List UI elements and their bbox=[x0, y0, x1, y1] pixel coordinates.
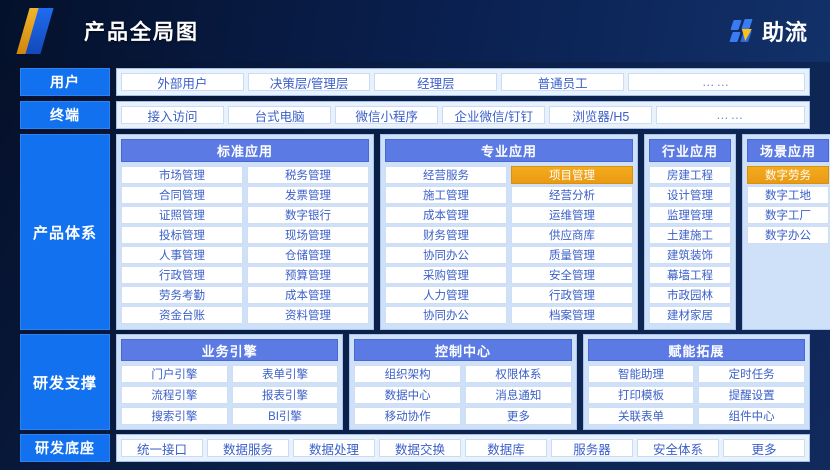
category-column-0-1: 税务管理发票管理数字银行现场管理仓储管理预算管理成本管理资料管理 bbox=[247, 166, 369, 325]
app-tile[interactable]: 数字办公 bbox=[747, 226, 829, 244]
app-tile[interactable]: 行政管理 bbox=[511, 286, 633, 304]
rd-support-label: 研发支撑 bbox=[20, 334, 110, 430]
rd-columns-0: 门户引擎流程引擎搜索引擎表单引擎报表引擎BI引擎 bbox=[121, 365, 338, 425]
app-tile[interactable]: 监理管理 bbox=[649, 206, 731, 224]
app-tile[interactable]: 质量管理 bbox=[511, 246, 633, 264]
rd-panel-0: 业务引擎门户引擎流程引擎搜索引擎表单引擎报表引擎BI引擎 bbox=[116, 334, 343, 430]
terminal-row-label: 终端 bbox=[20, 101, 110, 129]
app-tile[interactable]: 税务管理 bbox=[247, 166, 369, 184]
app-tile[interactable]: 合同管理 bbox=[121, 186, 243, 204]
brand-logo: 助流 bbox=[730, 15, 808, 47]
rd-base-row: 研发底座 统一接口数据服务数据处理数据交换数据库服务器安全体系更多 bbox=[20, 434, 810, 462]
brand-name: 助流 bbox=[762, 15, 808, 47]
rd-tile[interactable]: 门户引擎 bbox=[121, 365, 228, 383]
rd-base-cell-2[interactable]: 数据处理 bbox=[293, 439, 375, 457]
app-tile[interactable]: 仓储管理 bbox=[247, 246, 369, 264]
category-columns-0: 市场管理合同管理证照管理投标管理人事管理行政管理劳务考勤资金台账税务管理发票管理… bbox=[121, 166, 369, 325]
rd-tile[interactable]: 表单引擎 bbox=[232, 365, 339, 383]
app-tile[interactable]: 人事管理 bbox=[121, 246, 243, 264]
app-tile[interactable]: 成本管理 bbox=[247, 286, 369, 304]
category-columns-1: 经营服务施工管理成本管理财务管理协同办公采购管理人力管理协同办公项目管理经营分析… bbox=[385, 166, 633, 325]
category-column-3-0: 数字劳务数字工地数字工厂数字办公 bbox=[747, 166, 829, 325]
rd-column-1-0: 组织架构数据中心移动协作 bbox=[354, 365, 461, 425]
rd-tile[interactable]: 消息通知 bbox=[465, 386, 572, 404]
rd-column-0-0: 门户引擎流程引擎搜索引擎 bbox=[121, 365, 228, 425]
terminal-cell-4[interactable]: 浏览器/H5 bbox=[549, 106, 652, 124]
zhuliu-logo-icon bbox=[730, 18, 756, 44]
lightning-bolt-icon bbox=[740, 29, 752, 41]
rd-tile[interactable]: 流程引擎 bbox=[121, 386, 228, 404]
terminal-cell-0[interactable]: 接入访问 bbox=[121, 106, 224, 124]
app-tile[interactable]: 市场管理 bbox=[121, 166, 243, 184]
rd-tile[interactable]: 组织架构 bbox=[354, 365, 461, 383]
app-tile[interactable]: 建筑装饰 bbox=[649, 246, 731, 264]
terminal-row: 终端 接入访问台式电脑微信小程序企业微信/钉钉浏览器/H5…… bbox=[20, 101, 810, 129]
terminal-cell-3[interactable]: 企业微信/钉钉 bbox=[442, 106, 545, 124]
rd-columns-1: 组织架构数据中心移动协作权限体系消息通知更多 bbox=[354, 365, 571, 425]
rd-tile[interactable]: 数据中心 bbox=[354, 386, 461, 404]
rd-support-panels: 业务引擎门户引擎流程引擎搜索引擎表单引擎报表引擎BI引擎控制中心组织架构数据中心… bbox=[116, 334, 810, 430]
category-panel-2: 行业应用房建工程设计管理监理管理土建施工建筑装饰幕墙工程市政园林建材家居 bbox=[644, 134, 736, 330]
app-tile[interactable]: 房建工程 bbox=[649, 166, 731, 184]
app-tile[interactable]: 档案管理 bbox=[511, 306, 633, 324]
product-system-label: 产品体系 bbox=[20, 134, 110, 330]
app-tile[interactable]: 证照管理 bbox=[121, 206, 243, 224]
app-tile[interactable]: 数字工地 bbox=[747, 186, 829, 204]
user-cell-3[interactable]: 普通员工 bbox=[501, 73, 624, 91]
rd-tile[interactable]: 智能助理 bbox=[588, 365, 695, 383]
user-cell-1[interactable]: 决策层/管理层 bbox=[248, 73, 371, 91]
user-cell-0[interactable]: 外部用户 bbox=[121, 73, 244, 91]
rd-panel-1: 控制中心组织架构数据中心移动协作权限体系消息通知更多 bbox=[349, 334, 576, 430]
rd-tile[interactable]: BI引擎 bbox=[232, 407, 339, 425]
app-tile[interactable]: 投标管理 bbox=[121, 226, 243, 244]
app-tile[interactable]: 运维管理 bbox=[511, 206, 633, 224]
app-tile[interactable]: 协同办公 bbox=[385, 306, 507, 324]
app-tile[interactable]: 现场管理 bbox=[247, 226, 369, 244]
app-tile[interactable]: 经营服务 bbox=[385, 166, 507, 184]
rd-column-2-0: 智能助理打印模板关联表单 bbox=[588, 365, 695, 425]
app-tile[interactable]: 数字工厂 bbox=[747, 206, 829, 224]
category-column-1-0: 经营服务施工管理成本管理财务管理协同办公采购管理人力管理协同办公 bbox=[385, 166, 507, 325]
app-tile[interactable]: 资料管理 bbox=[247, 306, 369, 324]
terminal-cell-5[interactable]: …… bbox=[656, 106, 805, 124]
app-tile[interactable]: 协同办公 bbox=[385, 246, 507, 264]
app-tile[interactable]: 施工管理 bbox=[385, 186, 507, 204]
rd-columns-2: 智能助理打印模板关联表单定时任务提醒设置组件中心 bbox=[588, 365, 805, 425]
category-title-1: 专业应用 bbox=[385, 139, 633, 162]
rd-tile[interactable]: 搜索引擎 bbox=[121, 407, 228, 425]
app-tile[interactable]: 市政园林 bbox=[649, 286, 731, 304]
rd-base-cell-1[interactable]: 数据服务 bbox=[207, 439, 289, 457]
rd-panel-2: 赋能拓展智能助理打印模板关联表单定时任务提醒设置组件中心 bbox=[583, 334, 810, 430]
rd-base-cell-7[interactable]: 更多 bbox=[723, 439, 805, 457]
app-tile[interactable]: 采购管理 bbox=[385, 266, 507, 284]
rd-panel-title-0: 业务引擎 bbox=[121, 339, 338, 361]
app-tile[interactable]: 项目管理 bbox=[511, 166, 633, 184]
rd-column-0-1: 表单引擎报表引擎BI引擎 bbox=[232, 365, 339, 425]
app-tile[interactable]: 资金台账 bbox=[121, 306, 243, 324]
rd-panel-title-1: 控制中心 bbox=[354, 339, 571, 361]
rd-base-cell-3[interactable]: 数据交换 bbox=[379, 439, 461, 457]
rd-tile[interactable]: 权限体系 bbox=[465, 365, 572, 383]
rd-tile[interactable]: 移动协作 bbox=[354, 407, 461, 425]
users-row-cells: 外部用户决策层/管理层经理层普通员工…… bbox=[116, 68, 810, 96]
slanted-bars-icon bbox=[22, 8, 70, 54]
category-columns-2: 房建工程设计管理监理管理土建施工建筑装饰幕墙工程市政园林建材家居 bbox=[649, 166, 731, 325]
category-title-2: 行业应用 bbox=[649, 139, 731, 162]
app-tile[interactable]: 成本管理 bbox=[385, 206, 507, 224]
rd-tile[interactable]: 打印模板 bbox=[588, 386, 695, 404]
rd-support-row: 研发支撑 业务引擎门户引擎流程引擎搜索引擎表单引擎报表引擎BI引擎控制中心组织架… bbox=[20, 334, 810, 430]
app-tile[interactable]: 经营分析 bbox=[511, 186, 633, 204]
app-tile[interactable]: 土建施工 bbox=[649, 226, 731, 244]
category-title-3: 场景应用 bbox=[747, 139, 829, 162]
page-title: 产品全局图 bbox=[84, 16, 199, 46]
rd-base-cell-4[interactable]: 数据库 bbox=[465, 439, 547, 457]
page-header: 产品全局图 助流 bbox=[0, 0, 830, 62]
category-column-1-1: 项目管理经营分析运维管理供应商库质量管理安全管理行政管理档案管理 bbox=[511, 166, 633, 325]
app-tile[interactable]: 行政管理 bbox=[121, 266, 243, 284]
rd-column-2-1: 定时任务提醒设置组件中心 bbox=[698, 365, 805, 425]
app-tile[interactable]: 数字劳务 bbox=[747, 166, 829, 184]
category-panel-1: 专业应用经营服务施工管理成本管理财务管理协同办公采购管理人力管理协同办公项目管理… bbox=[380, 134, 638, 330]
app-tile[interactable]: 财务管理 bbox=[385, 226, 507, 244]
app-tile[interactable]: 发票管理 bbox=[247, 186, 369, 204]
terminal-row-cells: 接入访问台式电脑微信小程序企业微信/钉钉浏览器/H5…… bbox=[116, 101, 810, 129]
app-tile[interactable]: 数字银行 bbox=[247, 206, 369, 224]
category-panel-3: 场景应用数字劳务数字工地数字工厂数字办公 bbox=[742, 134, 830, 330]
terminal-cell-1[interactable]: 台式电脑 bbox=[228, 106, 331, 124]
rd-base-cell-5[interactable]: 服务器 bbox=[551, 439, 633, 457]
app-tile[interactable]: 供应商库 bbox=[511, 226, 633, 244]
rd-panel-title-2: 赋能拓展 bbox=[588, 339, 805, 361]
rd-tile[interactable]: 提醒设置 bbox=[698, 386, 805, 404]
rd-base-cell-6[interactable]: 安全体系 bbox=[637, 439, 719, 457]
app-tile[interactable]: 劳务考勤 bbox=[121, 286, 243, 304]
rd-tile[interactable]: 组件中心 bbox=[698, 407, 805, 425]
rd-base-cell-0[interactable]: 统一接口 bbox=[121, 439, 203, 457]
category-title-0: 标准应用 bbox=[121, 139, 369, 162]
terminal-cell-2[interactable]: 微信小程序 bbox=[335, 106, 438, 124]
category-columns-3: 数字劳务数字工地数字工厂数字办公 bbox=[747, 166, 829, 325]
users-row: 用户 外部用户决策层/管理层经理层普通员工…… bbox=[20, 68, 810, 96]
app-tile[interactable]: 预算管理 bbox=[247, 266, 369, 284]
app-tile[interactable]: 建材家居 bbox=[649, 306, 731, 324]
rd-tile[interactable]: 关联表单 bbox=[588, 407, 695, 425]
app-tile[interactable]: 安全管理 bbox=[511, 266, 633, 284]
rd-tile[interactable]: 定时任务 bbox=[698, 365, 805, 383]
category-panel-0: 标准应用市场管理合同管理证照管理投标管理人事管理行政管理劳务考勤资金台账税务管理… bbox=[116, 134, 374, 330]
app-tile[interactable]: 幕墙工程 bbox=[649, 266, 731, 284]
rd-tile[interactable]: 更多 bbox=[465, 407, 572, 425]
product-category-panels: 标准应用市场管理合同管理证照管理投标管理人事管理行政管理劳务考勤资金台账税务管理… bbox=[116, 134, 830, 330]
user-cell-2[interactable]: 经理层 bbox=[374, 73, 497, 91]
rd-base-label: 研发底座 bbox=[20, 434, 110, 462]
product-system-row: 产品体系 标准应用市场管理合同管理证照管理投标管理人事管理行政管理劳务考勤资金台… bbox=[20, 134, 810, 330]
app-tile[interactable]: 人力管理 bbox=[385, 286, 507, 304]
user-cell-4[interactable]: …… bbox=[628, 73, 805, 91]
rd-base-cells: 统一接口数据服务数据处理数据交换数据库服务器安全体系更多 bbox=[116, 434, 810, 462]
category-column-2-0: 房建工程设计管理监理管理土建施工建筑装饰幕墙工程市政园林建材家居 bbox=[649, 166, 731, 325]
app-tile[interactable]: 设计管理 bbox=[649, 186, 731, 204]
users-row-label: 用户 bbox=[20, 68, 110, 96]
rd-tile[interactable]: 报表引擎 bbox=[232, 386, 339, 404]
rd-column-1-1: 权限体系消息通知更多 bbox=[465, 365, 572, 425]
category-column-0-0: 市场管理合同管理证照管理投标管理人事管理行政管理劳务考勤资金台账 bbox=[121, 166, 243, 325]
